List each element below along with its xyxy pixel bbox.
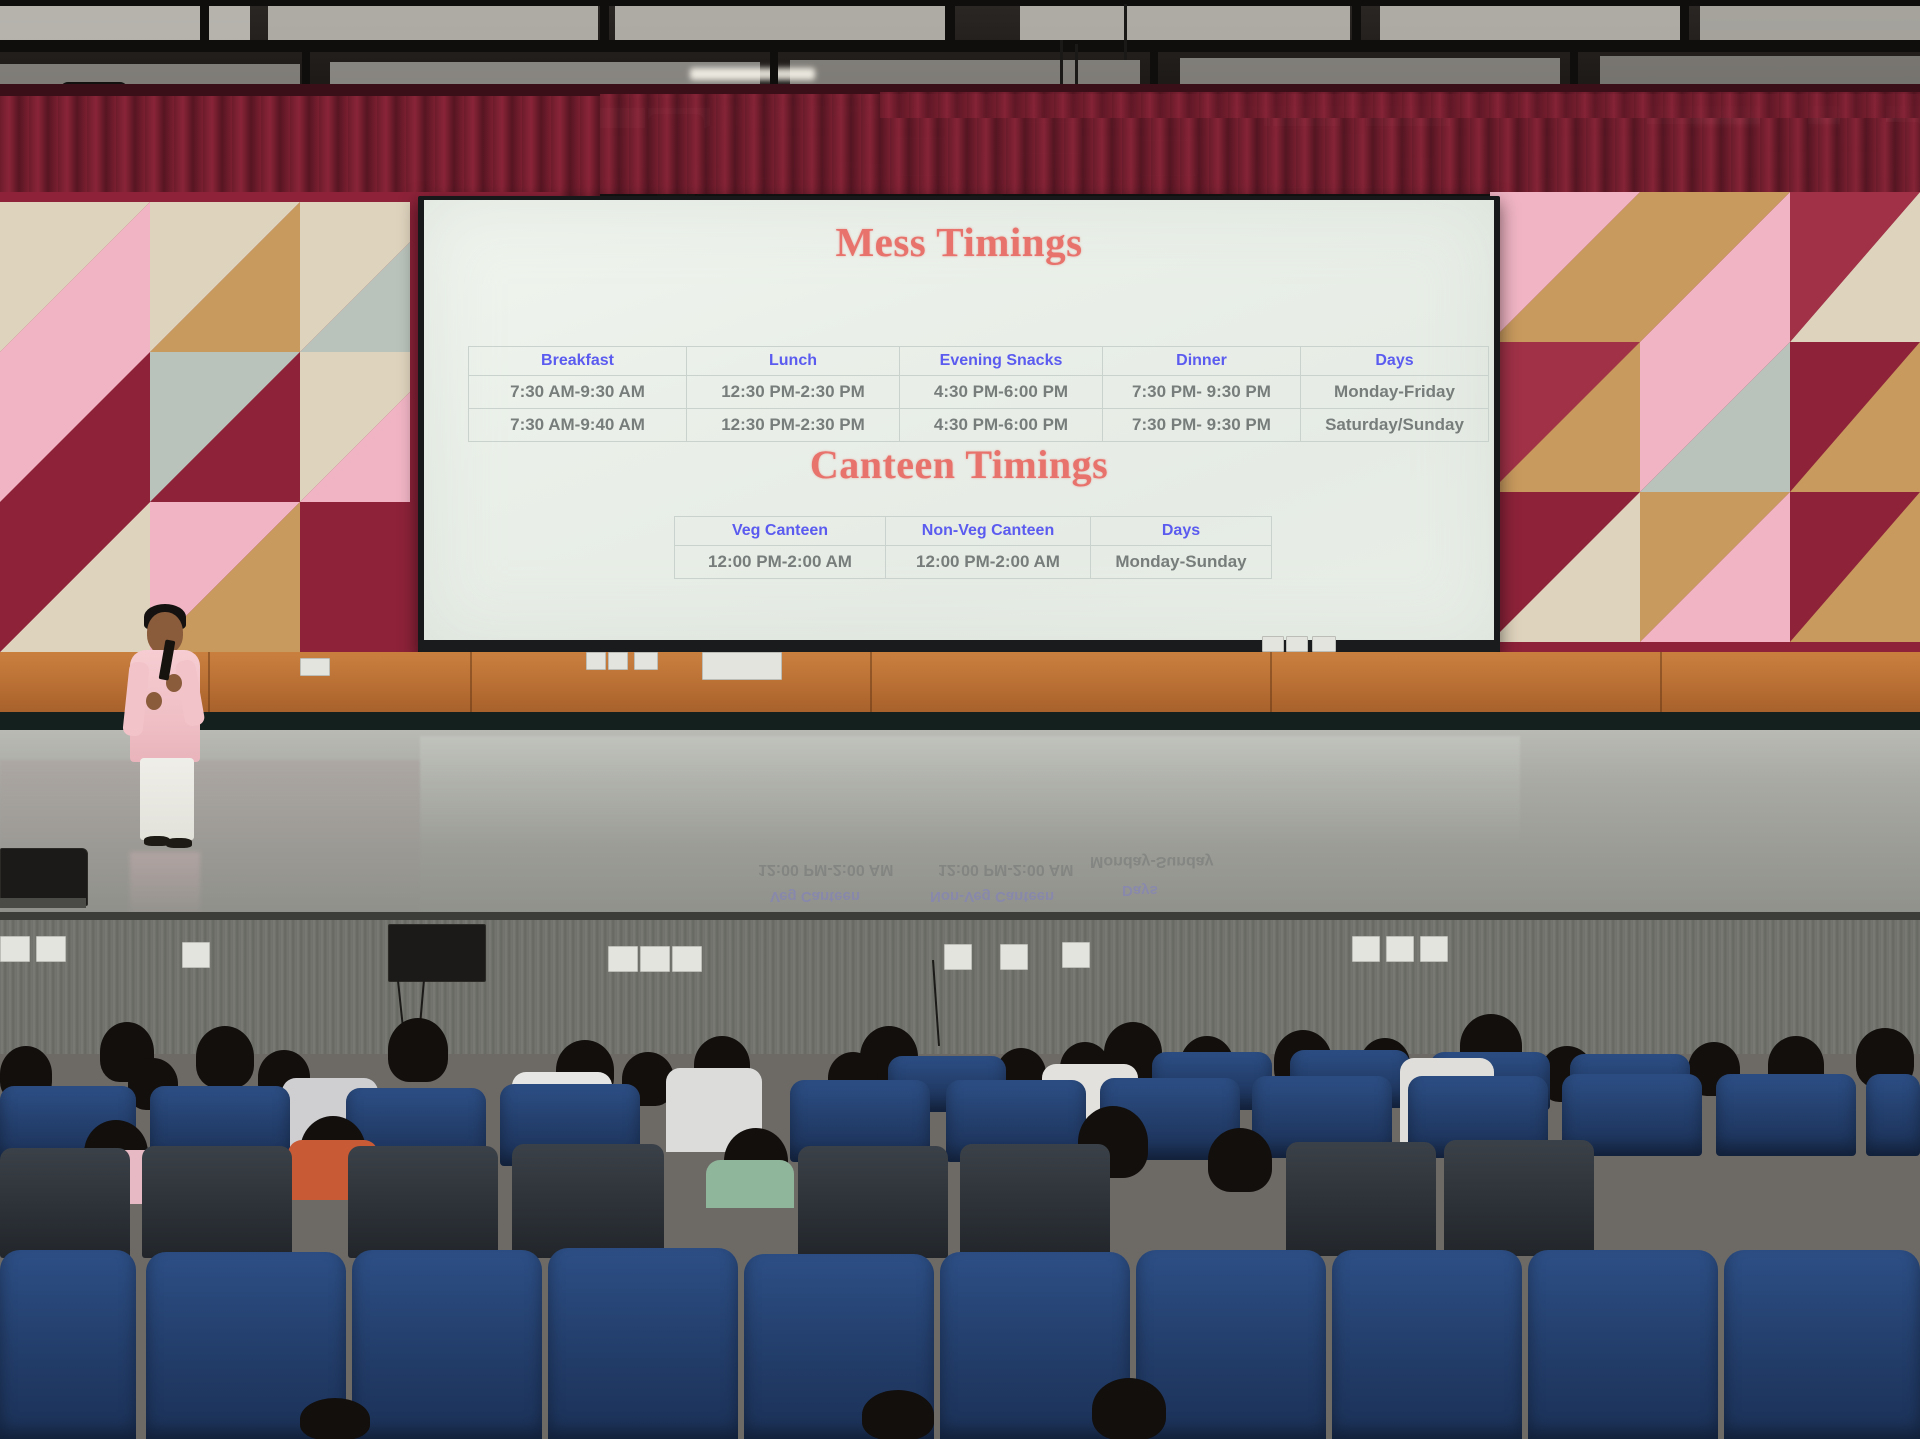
mess-timings-table: BreakfastLunchEvening SnacksDinnerDays7:… [468, 346, 1489, 442]
table-header-cell: Veg Canteen [675, 517, 886, 546]
audience-head [1092, 1378, 1166, 1439]
wall-cap [0, 912, 1920, 920]
projection-screen: Mess Timings BreakfastLunchEvening Snack… [424, 200, 1494, 644]
wall-mounted-speaker [388, 924, 486, 982]
auditorium-seat-front [1444, 1140, 1594, 1256]
auditorium-seat-front [512, 1144, 664, 1258]
truss-post [600, 0, 609, 52]
ceiling-panel [615, 4, 945, 40]
presenter [118, 600, 218, 850]
table-cell: 12:00 PM-2:00 AM [675, 546, 886, 579]
auditorium-seat-front [1286, 1142, 1436, 1256]
truss-post [1680, 0, 1689, 52]
wall-switch-plate[interactable] [1312, 636, 1336, 652]
wall-switch-plate[interactable] [300, 658, 330, 676]
auditorium-seat-front [798, 1146, 948, 1258]
ceiling-panel [1700, 2, 1920, 40]
table-cell: 12:30 PM-2:30 PM [687, 376, 900, 409]
ceiling-panel [1020, 4, 1350, 40]
reflection-text: Veg Canteen [770, 888, 860, 905]
table-row: 12:00 PM-2:00 AM12:00 PM-2:00 AMMonday-S… [675, 546, 1272, 579]
presenter-dhoti [140, 758, 194, 840]
wood-seam [1660, 652, 1662, 714]
ceiling-panel [268, 4, 598, 40]
table-cell: Saturday/Sunday [1301, 409, 1489, 442]
table-row: 7:30 AM-9:30 AM12:30 PM-2:30 PM4:30 PM-6… [469, 376, 1489, 409]
table-cell: Monday-Friday [1301, 376, 1489, 409]
truss-post [1352, 0, 1361, 52]
audience-head [196, 1026, 254, 1088]
wall-access-panel[interactable] [702, 652, 782, 680]
power-socket[interactable] [640, 946, 670, 972]
auditorium-photo: Mess Timings BreakfastLunchEvening Snack… [0, 0, 1920, 1439]
ceiling-light-glow [690, 68, 815, 80]
power-socket[interactable] [672, 946, 702, 972]
auditorium-seat-front [0, 1148, 130, 1258]
table-cell: Monday-Sunday [1091, 546, 1272, 579]
reflection-text: 12:00 PM-2:00 AM [938, 860, 1073, 878]
table-cell: 12:00 PM-2:00 AM [886, 546, 1091, 579]
audience-head [1208, 1128, 1272, 1192]
power-socket[interactable] [0, 936, 30, 962]
slide-title-mess: Mess Timings [424, 218, 1494, 266]
table-cell: 7:30 PM- 9:30 PM [1103, 376, 1301, 409]
table-row: 7:30 AM-9:40 AM12:30 PM-2:30 PM4:30 PM-6… [469, 409, 1489, 442]
stage-wood-paneling [0, 652, 1920, 714]
table-header-cell: Non-Veg Canteen [886, 517, 1091, 546]
slide-title-canteen: Canteen Timings [424, 441, 1494, 488]
power-socket[interactable] [1000, 944, 1028, 970]
auditorium-seat-front [548, 1248, 738, 1439]
table-header-cell: Lunch [687, 347, 900, 376]
audience-head [300, 1398, 370, 1439]
stage-curtain-right [880, 92, 1920, 118]
ceiling-panel [1380, 2, 1680, 40]
auditorium-seat-front [352, 1250, 542, 1439]
reflection-text: Monday-Sunday [1090, 852, 1214, 870]
auditorium-seat-front [1528, 1250, 1718, 1439]
auditorium-seat-front [1724, 1250, 1920, 1439]
wall-switch-plate[interactable] [608, 652, 628, 670]
auditorium-seat-front [0, 1250, 136, 1439]
power-socket[interactable] [36, 936, 66, 962]
table-header-cell: Evening Snacks [900, 347, 1103, 376]
truss-beam [0, 40, 1920, 52]
reflection-text: Days [1122, 882, 1158, 899]
stage-curtain-left [0, 96, 600, 206]
table-cell: 7:30 PM- 9:30 PM [1103, 409, 1301, 442]
wall-switch-plate[interactable] [1286, 636, 1308, 652]
wall-switch-plate[interactable] [586, 652, 606, 670]
wall-switch-plate[interactable] [1262, 636, 1284, 652]
canteen-timings-table: Veg CanteenNon-Veg CanteenDays12:00 PM-2… [674, 516, 1272, 579]
power-socket[interactable] [1386, 936, 1414, 962]
table-cell: 7:30 AM-9:40 AM [469, 409, 687, 442]
stage-monitor-base [0, 898, 86, 908]
ceiling-panel [0, 6, 250, 40]
power-socket[interactable] [1352, 936, 1380, 962]
truss-post [945, 0, 955, 52]
auditorium-seat-front [142, 1146, 292, 1258]
lower-back-wall [0, 916, 1920, 1054]
wood-seam [1270, 652, 1272, 714]
geometric-wall-right [1490, 192, 1920, 662]
auditorium-seat [1716, 1074, 1856, 1156]
presenter-shoe [166, 838, 192, 848]
truss-post [200, 0, 209, 52]
hanging-cable [1124, 4, 1127, 60]
power-socket[interactable] [608, 946, 638, 972]
table-header-cell: Breakfast [469, 347, 687, 376]
auditorium-seat-front [960, 1144, 1110, 1258]
table-cell: 7:30 AM-9:30 AM [469, 376, 687, 409]
reflection-text: 12:00 PM-2:00 AM [758, 860, 893, 878]
wood-seam [470, 652, 472, 714]
table-cell: 12:30 PM-2:30 PM [687, 409, 900, 442]
power-socket[interactable] [1420, 936, 1448, 962]
truss-beam [0, 0, 1920, 6]
power-socket[interactable] [182, 942, 210, 968]
auditorium-seat-front [348, 1146, 498, 1258]
auditorium-seat [1866, 1074, 1920, 1156]
table-header-cell: Days [1301, 347, 1489, 376]
table-header-row: Veg CanteenNon-Veg CanteenDays [675, 517, 1272, 546]
table-cell: 4:30 PM-6:00 PM [900, 376, 1103, 409]
screen-bottom-bezel [418, 640, 1500, 652]
audience-head [862, 1390, 934, 1439]
wall-switch-plate[interactable] [634, 652, 658, 670]
floor-reflection-screen [420, 736, 1520, 846]
reflection-text: Non-Veg Canteen [930, 888, 1054, 905]
audience-body [706, 1160, 794, 1208]
auditorium-seat-front [1332, 1250, 1522, 1439]
power-socket[interactable] [944, 944, 972, 970]
table-cell: 4:30 PM-6:00 PM [900, 409, 1103, 442]
presenter-left-hand [146, 692, 162, 710]
power-socket[interactable] [1062, 942, 1090, 968]
wood-seam [870, 652, 872, 714]
audience-head [388, 1018, 448, 1082]
table-header-cell: Dinner [1103, 347, 1301, 376]
stage-plinth [0, 712, 1920, 732]
table-header-row: BreakfastLunchEvening SnacksDinnerDays [469, 347, 1489, 376]
table-header-cell: Days [1091, 517, 1272, 546]
